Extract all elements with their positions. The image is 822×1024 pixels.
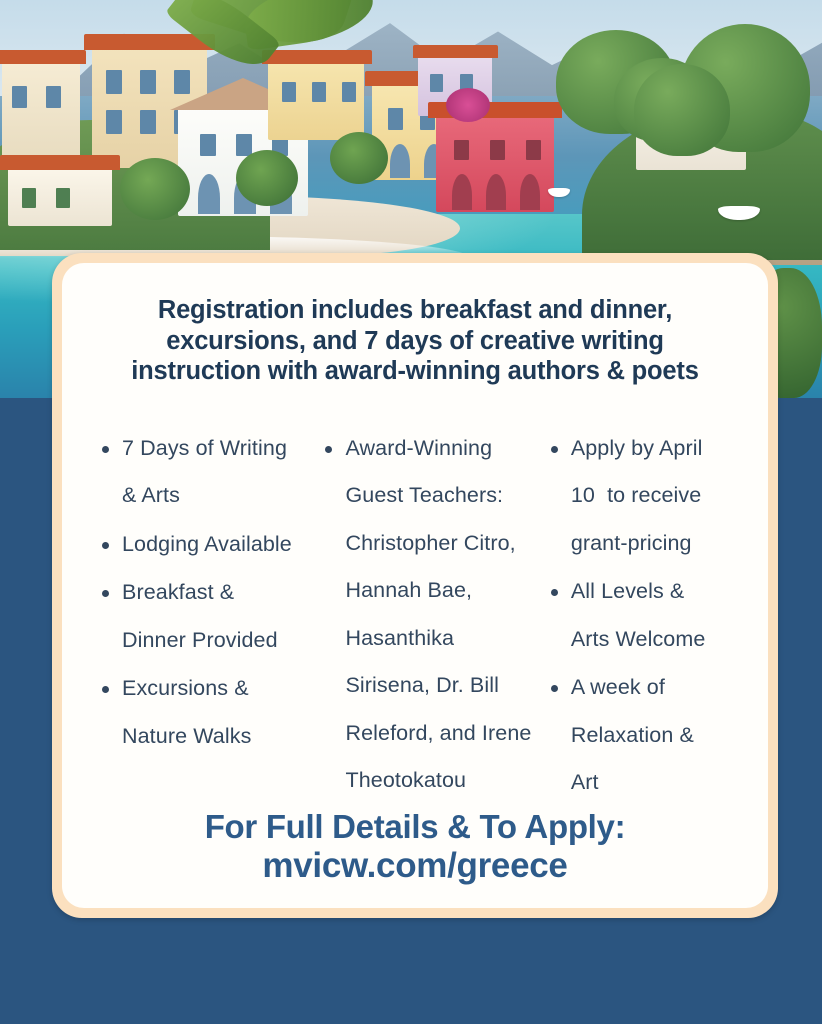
list-item: Breakfast & Dinner Provided: [96, 569, 319, 664]
feature-column-3: Apply by April 10 to receive grant-prici…: [545, 425, 742, 808]
list-item: Award-Winning Guest Teachers: Christophe…: [319, 425, 544, 805]
list-item: 7 Days of Writing & Arts: [96, 425, 319, 520]
headline: Registration includes breakfast and dinn…: [88, 295, 742, 387]
window: [140, 70, 156, 94]
tree: [330, 132, 388, 184]
list-item: A week of Relaxation & Art: [545, 664, 742, 807]
info-card-surface: Registration includes breakfast and dinn…: [62, 263, 768, 908]
house-pale-left: [2, 62, 80, 158]
window: [342, 82, 356, 102]
window: [174, 70, 190, 94]
window: [140, 110, 156, 134]
window: [46, 86, 61, 108]
window: [388, 108, 403, 130]
house-pink-waterfront: [436, 116, 554, 212]
bullet-list-1: 7 Days of Writing & Arts Lodging Availab…: [96, 425, 319, 761]
arch-doorway: [452, 174, 472, 210]
window: [236, 134, 252, 156]
pine-tree: [634, 64, 730, 156]
cta-url[interactable]: mvicw.com/greece: [88, 846, 742, 887]
window: [106, 70, 122, 94]
list-item: Apply by April 10 to receive grant-prici…: [545, 425, 742, 568]
window: [12, 86, 27, 108]
window: [106, 110, 122, 134]
house-terracotta-lowleft: [8, 168, 112, 226]
list-item: All Levels & Arts Welcome: [545, 568, 742, 663]
window: [282, 82, 296, 102]
tree: [120, 158, 190, 220]
window: [200, 134, 216, 156]
list-item: Excursions & Nature Walks: [96, 665, 319, 760]
arch-doorway: [390, 144, 410, 178]
window: [430, 74, 443, 92]
headline-line-3: instruction with award-winning authors &…: [88, 356, 742, 387]
headline-line-2: excursions, and 7 days of creative writi…: [88, 326, 742, 357]
feature-column-1: 7 Days of Writing & Arts Lodging Availab…: [88, 425, 319, 762]
bullet-list-2: Award-Winning Guest Teachers: Christophe…: [319, 425, 544, 805]
window: [312, 82, 326, 102]
list-item: Lodging Available: [96, 521, 319, 569]
roof: [413, 45, 498, 58]
window: [454, 140, 469, 160]
call-to-action: For Full Details & To Apply: mvicw.com/g…: [88, 808, 742, 887]
bougainvillea: [446, 88, 490, 122]
house-yellow-upper: [268, 62, 364, 140]
roof: [0, 50, 86, 64]
window: [56, 188, 70, 208]
roof: [262, 50, 372, 64]
info-card: Registration includes breakfast and dinn…: [52, 253, 778, 918]
window: [526, 140, 541, 160]
bullet-list-3: Apply by April 10 to receive grant-prici…: [545, 425, 742, 807]
arch-doorway: [198, 174, 220, 214]
arch-doorway: [486, 174, 506, 210]
feature-column-2: Award-Winning Guest Teachers: Christophe…: [319, 425, 544, 806]
headline-line-1: Registration includes breakfast and dinn…: [88, 295, 742, 326]
cta-heading: For Full Details & To Apply:: [88, 808, 742, 846]
tree: [236, 150, 298, 206]
feature-columns: 7 Days of Writing & Arts Lodging Availab…: [88, 425, 742, 808]
window: [490, 140, 505, 160]
roof: [0, 155, 120, 170]
arch-doorway: [520, 174, 540, 210]
window: [22, 188, 36, 208]
